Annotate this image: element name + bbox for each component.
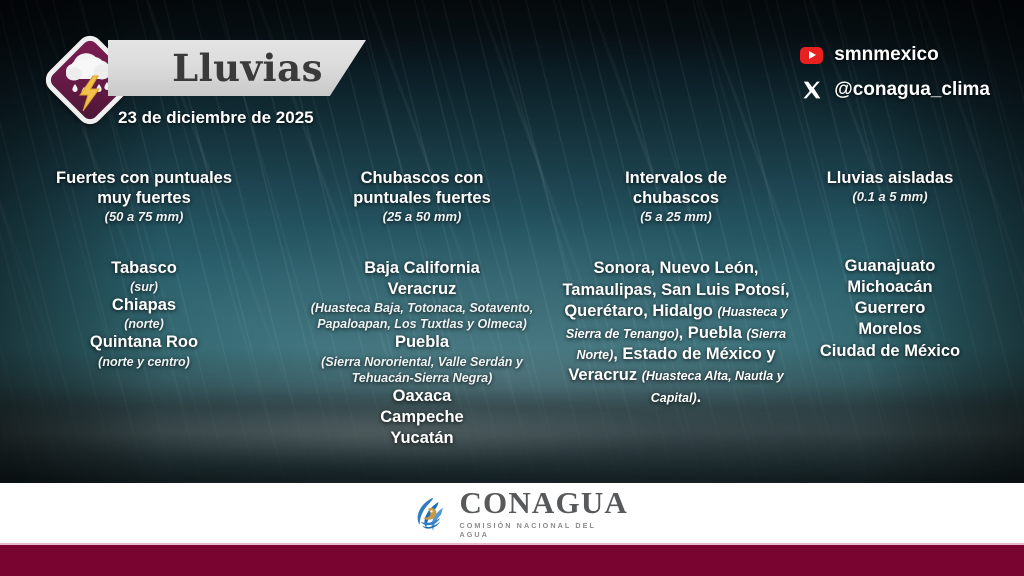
column-range: (0.1 a 5 mm): [790, 189, 990, 204]
state-detail: (sur): [32, 279, 256, 295]
state-entry: Guanajuato: [790, 256, 990, 277]
flow-seg: (Huasteca Alta, Nautla y Capital): [642, 369, 784, 404]
state-entry: Guerrero: [790, 298, 990, 319]
column-fuertes-con-puntuales-muy-fuertes: Fuertes con puntuales muy fuertes (50 a …: [32, 168, 256, 370]
youtube-icon: [800, 47, 823, 64]
social-handles: smnmexico @conagua_clima: [800, 41, 990, 111]
state-entry: Puebla (Sierra Nororiental, Valle Serdán…: [310, 332, 534, 385]
state-detail: (Sierra Nororiental, Valle Serdán y Tehu…: [310, 354, 534, 386]
infographic-canvas: Lluvias 23 de diciembre de 2025 smnmexic…: [0, 0, 1024, 576]
state-entry: Yucatán: [310, 428, 534, 449]
conagua-eagle-water-logo-icon: [412, 491, 449, 535]
social-row-x[interactable]: @conagua_clima: [800, 76, 990, 104]
column-range: (25 a 50 mm): [310, 209, 534, 224]
column-states: Baja California Veracruz (Huasteca Baja,…: [310, 258, 534, 449]
state-entry: Tabasco (sur): [32, 258, 256, 295]
conagua-wordmark: CONAGUA: [459, 487, 628, 518]
column-heading-line1: Fuertes con puntuales: [32, 168, 256, 188]
column-range: (50 a 75 mm): [32, 209, 256, 224]
state-entry: Oaxaca: [310, 386, 534, 407]
x-handle: @conagua_clima: [834, 79, 990, 101]
column-states: Sonora, Nuevo León, Tamaulipas, San Luis…: [562, 258, 790, 408]
state-name: Baja California: [310, 258, 534, 279]
state-name: Quintana Roo: [32, 332, 256, 353]
column-chubascos-con-puntuales-fuertes: Chubascos con puntuales fuertes (25 a 50…: [310, 168, 534, 449]
social-row-youtube[interactable]: smnmexico: [800, 41, 990, 69]
state-name: Guerrero: [790, 298, 990, 319]
conagua-logo-text: CONAGUA COMISIÓN NACIONAL DEL AGUA: [459, 487, 628, 539]
state-name: Guanajuato: [790, 256, 990, 277]
state-name: Yucatán: [310, 428, 534, 449]
state-name: Chiapas: [32, 295, 256, 316]
column-heading-line1: Lluvias aisladas: [790, 168, 990, 188]
state-name: Oaxaca: [310, 386, 534, 407]
state-name: Veracruz: [310, 279, 534, 300]
state-detail: (norte y centro): [32, 354, 256, 370]
state-name: Campeche: [310, 407, 534, 428]
state-entry: Campeche: [310, 407, 534, 428]
state-entry: Chiapas (norte): [32, 295, 256, 332]
footer-bottom-bar: [0, 545, 1024, 576]
state-entry: Baja California: [310, 258, 534, 279]
column-heading-line2: muy fuertes: [32, 188, 256, 208]
forecast-columns: Fuertes con puntuales muy fuertes (50 a …: [0, 168, 1024, 468]
state-entry: Ciudad de México: [790, 341, 990, 362]
page-title: Lluvias: [108, 40, 343, 96]
column-lluvias-aisladas: Lluvias aisladas (0.1 a 5 mm) Guanajuato…: [790, 168, 990, 362]
state-name: Michoacán: [790, 277, 990, 298]
state-flow-text: Sonora, Nuevo León, Tamaulipas, San Luis…: [562, 258, 790, 408]
forecast-date: 23 de diciembre de 2025: [118, 108, 314, 128]
column-states: Guanajuato Michoacán Guerrero Morelos Ci…: [790, 256, 990, 362]
state-detail: (Huasteca Baja, Totonaca, Sotavento, Pap…: [310, 300, 534, 332]
flow-seg: , Puebla: [679, 324, 747, 342]
column-intervalos-de-chubascos: Intervalos de chubascos (5 a 25 mm) Sono…: [562, 168, 790, 408]
state-name: Ciudad de México: [790, 341, 990, 362]
column-heading: Chubascos con puntuales fuertes: [310, 168, 534, 208]
state-entry: Michoacán: [790, 277, 990, 298]
state-name: Tabasco: [32, 258, 256, 279]
state-name: Morelos: [790, 319, 990, 340]
youtube-handle: smnmexico: [834, 44, 939, 66]
column-heading: Intervalos de chubascos: [562, 168, 790, 208]
flow-seg: .: [697, 388, 702, 406]
column-heading: Lluvias aisladas: [790, 168, 990, 188]
conagua-tagline: COMISIÓN NACIONAL DEL AGUA: [459, 521, 628, 539]
state-entry: Veracruz (Huasteca Baja, Totonaca, Sotav…: [310, 279, 534, 332]
column-states: Tabasco (sur) Chiapas (norte) Quintana R…: [32, 258, 256, 369]
column-heading-line1: Intervalos de: [562, 168, 790, 188]
x-twitter-icon: [800, 80, 823, 101]
column-heading-line1: Chubascos con: [310, 168, 534, 188]
column-heading-line2: chubascos: [562, 188, 790, 208]
column-heading-line2: puntuales fuertes: [310, 188, 534, 208]
state-entry: Quintana Roo (norte y centro): [32, 332, 256, 369]
state-entry: Morelos: [790, 319, 990, 340]
state-detail: (norte): [32, 316, 256, 332]
column-range: (5 a 25 mm): [562, 209, 790, 224]
state-name: Puebla: [310, 332, 534, 353]
conagua-logo: CONAGUA COMISIÓN NACIONAL DEL AGUA: [412, 489, 628, 537]
column-heading: Fuertes con puntuales muy fuertes: [32, 168, 256, 208]
